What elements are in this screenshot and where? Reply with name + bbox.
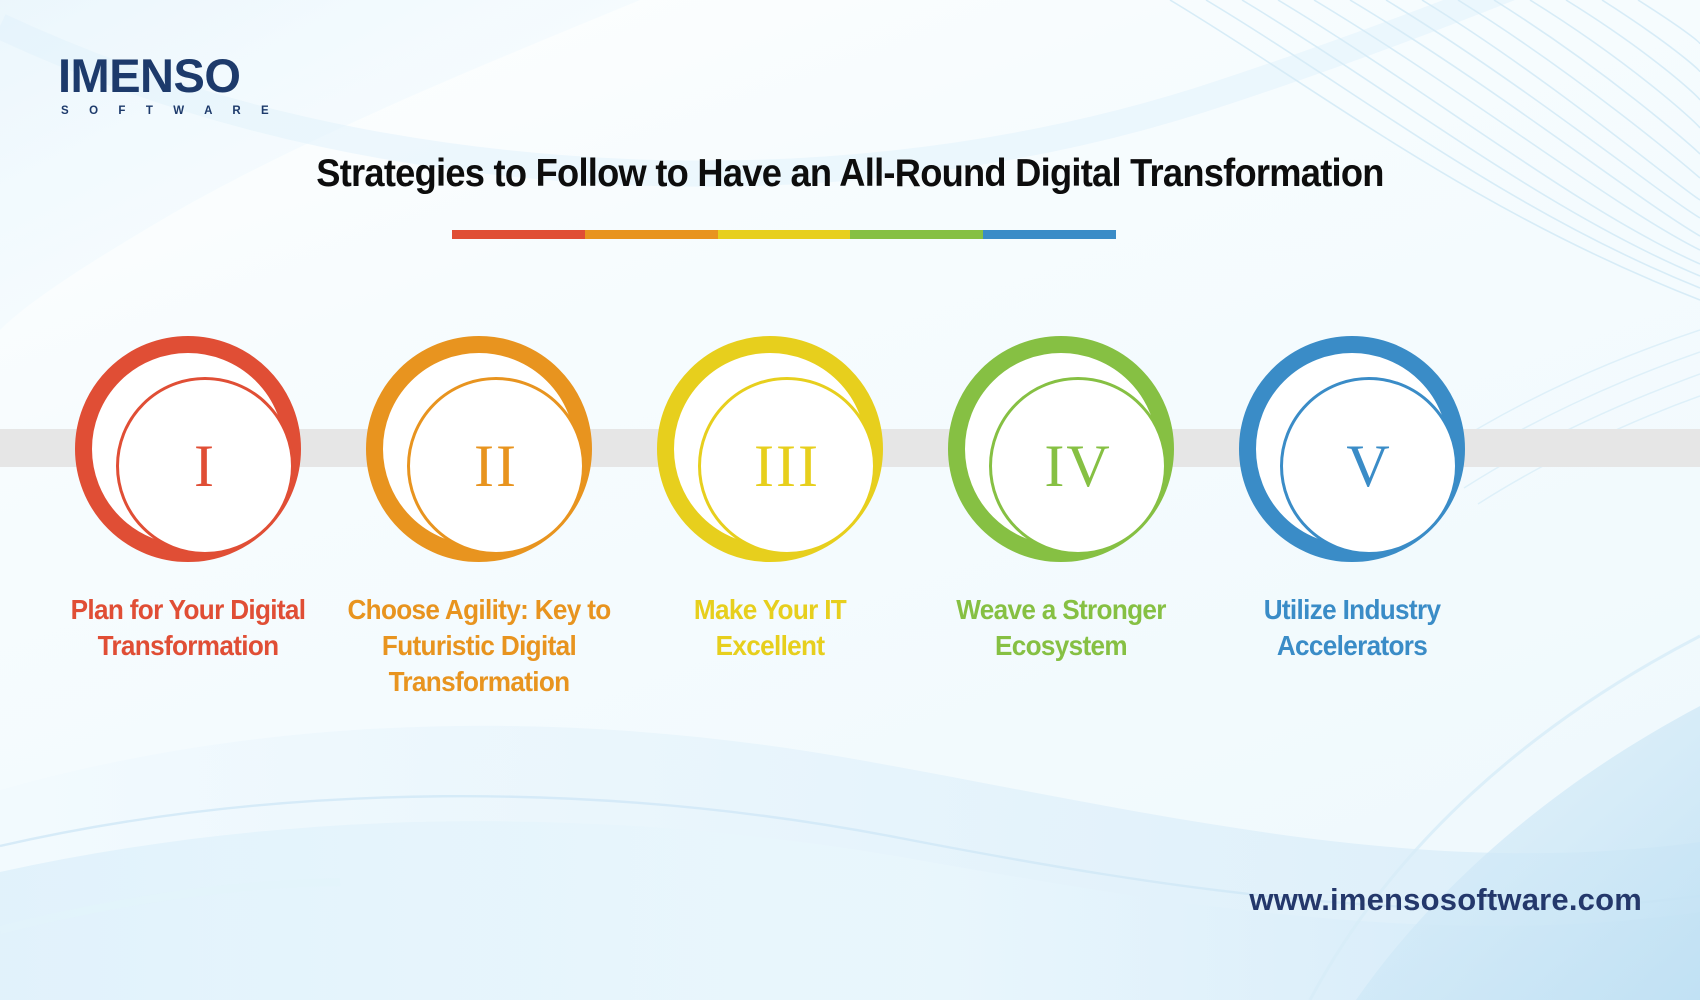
- step-ring-inner-5: V: [1280, 377, 1458, 555]
- step-node-2[interactable]: II: [366, 336, 592, 562]
- step-caption-4: Weave a Stronger Ecosystem: [928, 592, 1194, 664]
- page-title: Strategies to Follow to Have an All-Roun…: [60, 152, 1641, 196]
- bottom-wave-back: [0, 726, 1700, 1000]
- rule-segment-2: [585, 230, 718, 239]
- step-node-3[interactable]: III: [657, 336, 883, 562]
- rule-segment-1: [452, 230, 585, 239]
- step-caption-5: Utilize Industry Accelerators: [1219, 592, 1485, 664]
- step-node-5[interactable]: V: [1239, 336, 1465, 562]
- step-caption-3: Make Your IT Excellent: [637, 592, 903, 664]
- website-url[interactable]: www.imensosoftware.com: [1249, 882, 1642, 918]
- rule-segment-4: [850, 230, 983, 239]
- step-ring-outer-3: III: [657, 336, 883, 562]
- logo-wordmark: IMENSO: [58, 52, 277, 99]
- brand-logo: IMENSO S O F T W A R E: [58, 52, 277, 118]
- diagonal-line-bundle-top-right: [1170, 0, 1700, 300]
- step-ring-inner-4: IV: [989, 377, 1167, 555]
- rule-segment-3: [718, 230, 851, 239]
- step-ring-outer-5: V: [1239, 336, 1465, 562]
- step-ring-inner-1: I: [116, 377, 294, 555]
- step-captions-row: Plan for Your Digital Transformation Cho…: [0, 592, 1700, 722]
- step-numeral-1: I: [194, 436, 216, 496]
- step-node-1[interactable]: I: [75, 336, 301, 562]
- bottom-left-curl: [0, 882, 340, 930]
- infographic-slide: IMENSO S O F T W A R E Strategies to Fol…: [0, 0, 1700, 1000]
- step-numeral-3: III: [754, 436, 820, 496]
- step-node-4[interactable]: IV: [948, 336, 1174, 562]
- step-caption-2: Choose Agility: Key to Futuristic Digita…: [346, 592, 612, 700]
- step-numeral-2: II: [474, 436, 518, 496]
- step-circles-row: I II III IV: [0, 336, 1700, 562]
- title-underline-rule: [452, 230, 1116, 239]
- step-caption-1: Plan for Your Digital Transformation: [55, 592, 321, 664]
- step-ring-outer-1: I: [75, 336, 301, 562]
- step-ring-outer-2: II: [366, 336, 592, 562]
- rule-segment-5: [983, 230, 1116, 239]
- step-ring-outer-4: IV: [948, 336, 1174, 562]
- step-numeral-5: V: [1346, 436, 1391, 496]
- step-ring-inner-3: III: [698, 377, 876, 555]
- bottom-right-corner-shape: [1356, 706, 1700, 1000]
- logo-subtitle: S O F T W A R E: [61, 106, 277, 118]
- step-ring-inner-2: II: [407, 377, 585, 555]
- step-numeral-4: IV: [1044, 436, 1111, 496]
